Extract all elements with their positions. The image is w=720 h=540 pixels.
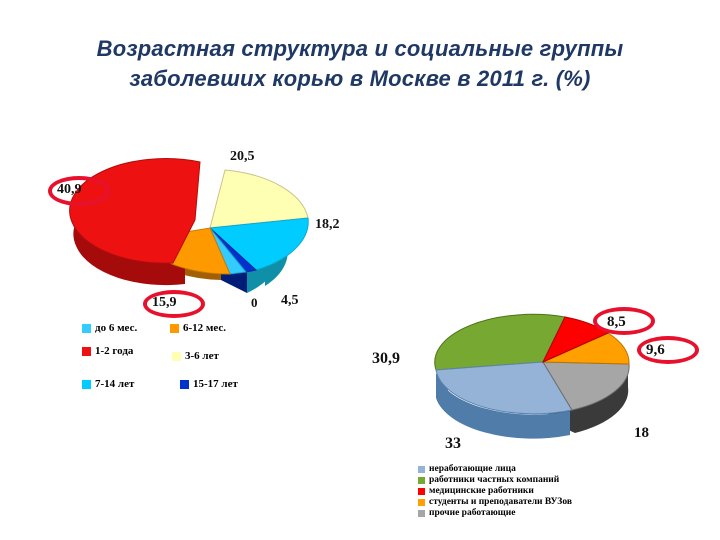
legend-label-age-1: 6-12 мес. xyxy=(183,322,226,334)
legend-item-social-4[interactable]: прочие работающие xyxy=(418,508,668,518)
legend-label-age-5: 15-17 лет xyxy=(193,378,238,390)
legend-item-social-3[interactable]: студенты и преподаватели ВУЗов xyxy=(418,497,668,507)
highlight-ring-8-5 xyxy=(593,307,655,335)
highlight-ring-40-9 xyxy=(48,176,110,206)
age-label-4-5: 4,5 xyxy=(281,293,299,309)
page-title: Возрастная структура и социальные группы… xyxy=(0,34,720,94)
slide-canvas: Возрастная структура и социальные группы… xyxy=(0,0,720,540)
legend-swatch-social-0 xyxy=(418,466,425,473)
legend-swatch-age-5 xyxy=(180,380,189,389)
legend-label-age-2: 1-2 года xyxy=(95,345,133,357)
legend-item-age-1[interactable]: 6-12 мес. xyxy=(170,322,258,334)
social-label-33: 33 xyxy=(445,435,461,453)
legend-label-social-4: прочие работающие xyxy=(429,508,515,518)
legend-swatch-social-2 xyxy=(418,488,425,495)
legend-swatch-age-3 xyxy=(172,352,181,361)
legend-swatch-age-0 xyxy=(82,324,91,333)
legend-swatch-social-4 xyxy=(418,510,425,517)
legend-label-social-3: студенты и преподаватели ВУЗов xyxy=(429,497,572,507)
legend-swatch-age-4 xyxy=(82,380,91,389)
legend-item-age-0[interactable]: до 6 мес. xyxy=(82,322,160,334)
social-pie-graphic xyxy=(365,300,710,460)
social-pie-svg xyxy=(365,300,710,460)
highlight-ring-15-9 xyxy=(143,290,205,318)
age-structure-chart[interactable]: 20,5 18,2 40,9 15,9 0 4,5 до 6 мес. 6-12… xyxy=(25,140,355,380)
legend-label-age-4: 7-14 лет xyxy=(95,378,134,390)
legend-item-social-1[interactable]: работники частных компаний xyxy=(418,475,668,485)
age-label-18-2: 18,2 xyxy=(315,217,340,233)
legend-item-social-2[interactable]: медицинские работники xyxy=(418,486,668,496)
legend-label-age-0: до 6 мес. xyxy=(95,322,137,334)
social-label-30-9: 30,9 xyxy=(372,350,400,368)
age-chart-legend: до 6 мес. 6-12 мес. 1-2 года 3-6 лет 7-1… xyxy=(82,322,352,396)
legend-label-social-0: неработающие лица xyxy=(429,464,516,474)
legend-item-age-3[interactable]: 3-6 лет xyxy=(172,350,250,362)
age-label-0: 0 xyxy=(251,295,258,311)
title-line-2: заболевших корью в Москве в 2011 г. (%) xyxy=(0,64,720,94)
legend-item-age-2[interactable]: 1-2 года xyxy=(82,340,162,362)
legend-label-social-2: медицинские работники xyxy=(429,486,534,496)
legend-swatch-age-1 xyxy=(170,324,179,333)
legend-label-age-3: 3-6 лет xyxy=(185,350,219,362)
legend-swatch-social-1 xyxy=(418,477,425,484)
social-label-18: 18 xyxy=(634,425,649,442)
legend-label-social-1: работники частных компаний xyxy=(429,475,559,485)
legend-item-social-0[interactable]: неработающие лица xyxy=(418,464,668,474)
legend-item-age-5[interactable]: 15-17 лет xyxy=(180,378,260,390)
social-groups-chart[interactable]: 30,9 33 18 9,6 8,5 неработающие лица раб… xyxy=(365,300,710,535)
title-line-1: Возрастная структура и социальные группы xyxy=(97,36,624,61)
social-chart-legend: неработающие лица работники частных комп… xyxy=(418,464,668,519)
legend-item-age-4[interactable]: 7-14 лет xyxy=(82,378,170,390)
age-label-20-5: 20,5 xyxy=(230,149,255,165)
legend-swatch-age-2 xyxy=(82,347,91,356)
legend-swatch-social-3 xyxy=(418,499,425,506)
highlight-ring-9-6 xyxy=(637,336,699,364)
